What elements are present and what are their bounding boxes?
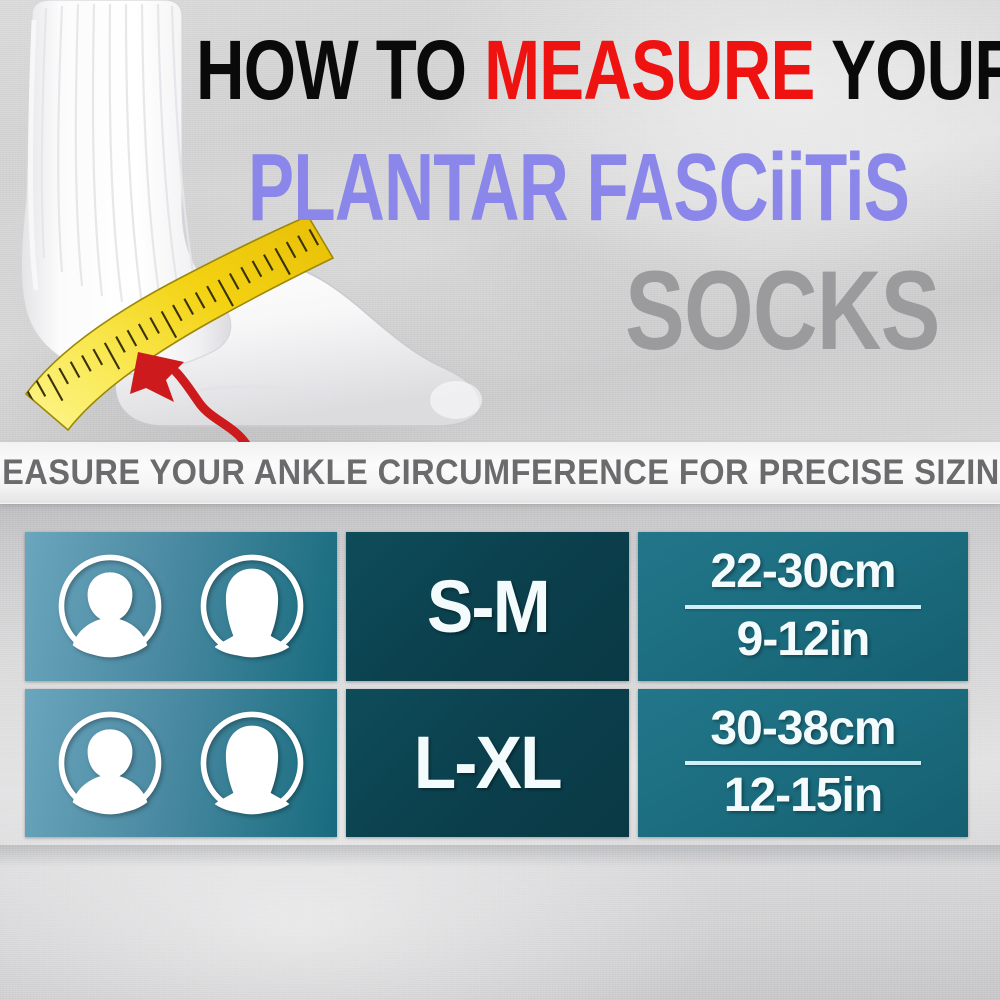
size-label-s-m: S-M [427,564,549,649]
measure-in-row-1: 9-12in [737,615,870,665]
male-avatar-icon [54,550,166,662]
table-row-2-avatars-cell [25,689,337,838]
table-row-2-measure-cell: 30-38cm 12-15in [638,689,968,838]
table-row-1-measure-cell: 22-30cm 9-12in [638,532,968,681]
table-row-2-size-cell: L-XL [346,689,629,838]
headline-line-2: PLANTAR FASCiiTiS [248,140,909,236]
subtitle-banner: MEASURE YOUR ANKLE CIRCUMFERENCE FOR PRE… [0,442,1000,504]
size-chart-table: S-M 22-30cm 9-12in L-XL [25,532,975,837]
size-label-l-xl: L-XL [414,720,561,805]
measure-divider-row-2 [685,761,921,765]
headline-line1-highlight: MEASURE [484,23,814,117]
table-row-1-size-cell: S-M [346,532,629,681]
background-shadow-band [0,845,1000,867]
table-row-1-avatars-cell [25,532,337,681]
infographic-canvas: HOW TO MEASURE YOUR PLANTAR FASCiiTiS SO… [0,0,1000,1000]
measure-in-row-2: 12-15in [724,771,882,821]
male-avatar-icon [54,707,166,819]
measure-divider-row-1 [685,605,921,609]
female-avatar-icon [196,550,308,662]
headline-line1-part2: YOUR [815,23,1000,117]
headline-line-1: HOW TO MEASURE YOUR [196,28,1000,112]
headline-line1-part1: HOW TO [196,23,484,117]
headline-block: HOW TO MEASURE YOUR PLANTAR FASCiiTiS SO… [0,0,1000,448]
subtitle-text: MEASURE YOUR ANKLE CIRCUMFERENCE FOR PRE… [0,453,1000,493]
female-avatar-icon [196,707,308,819]
headline-line-3: SOCKS [625,255,940,367]
measure-cm-row-2: 30-38cm [710,704,895,754]
measure-cm-row-1: 22-30cm [710,547,895,597]
